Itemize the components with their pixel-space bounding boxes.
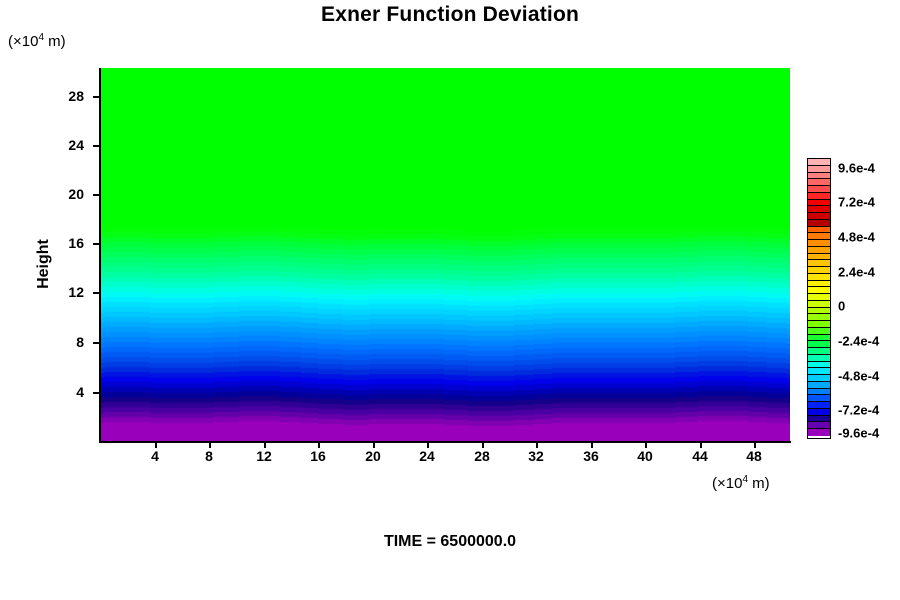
x-tick-mark	[264, 441, 266, 448]
colorbar-band	[808, 341, 830, 348]
colorbar-tick-label: -4.8e-4	[838, 369, 879, 384]
y-tick-mark	[93, 194, 101, 196]
colorbar-tick-label: -7.2e-4	[838, 403, 879, 418]
y-axis-spine	[99, 68, 101, 443]
x-tick-label: 16	[310, 448, 326, 464]
colorbar-tick-label: 7.2e-4	[838, 195, 875, 210]
colorbar-band	[808, 308, 830, 315]
x-tick-label: 24	[419, 448, 435, 464]
colorbar-band	[808, 206, 830, 213]
x-tick-mark	[645, 441, 647, 448]
colorbar-band	[808, 254, 830, 261]
x-axis-unit-tail: m)	[748, 475, 770, 492]
colorbar-band	[808, 335, 830, 342]
y-tick-mark	[93, 243, 101, 245]
colorbar-band	[808, 389, 830, 396]
x-tick-mark	[536, 441, 538, 448]
colorbar-band	[808, 368, 830, 375]
colorbar-band	[808, 375, 830, 382]
colorbar-ticklabels: 9.6e-47.2e-44.8e-42.4e-40-2.4e-4-4.8e-4-…	[838, 158, 900, 439]
x-tick-label: 20	[365, 448, 381, 464]
colorbar-band	[808, 287, 830, 294]
colorbar-band	[808, 193, 830, 200]
colorbar-band	[808, 247, 830, 254]
y-tick-mark	[93, 342, 101, 344]
colorbar-band	[808, 233, 830, 240]
colorbar-band	[808, 362, 830, 369]
colorbar-band	[808, 213, 830, 220]
y-tick-label: 28	[0, 88, 84, 104]
x-tick-label: 28	[474, 448, 490, 464]
colorbar-band	[808, 348, 830, 355]
x-tick-label: 12	[256, 448, 272, 464]
y-tick-mark	[93, 96, 101, 98]
page-title: Exner Function Deviation	[0, 3, 900, 27]
y-tick-mark	[93, 145, 101, 147]
colorbar-tick-label: 4.8e-4	[838, 230, 875, 245]
x-tick-label: 40	[637, 448, 653, 464]
colorbar-band	[808, 416, 830, 423]
colorbar-band	[808, 240, 830, 247]
colorbar-band	[808, 328, 830, 335]
y-tick-label: 4	[0, 384, 84, 400]
colorbar-band	[808, 402, 830, 409]
colorbar-band	[808, 200, 830, 207]
x-axis-spine	[101, 441, 791, 443]
colorbar-band	[808, 429, 830, 436]
y-tick-mark	[93, 392, 101, 394]
x-tick-mark	[155, 441, 157, 448]
colorbar-band	[808, 301, 830, 308]
colorbar-band	[808, 186, 830, 193]
x-tick-label: 32	[528, 448, 544, 464]
colorbar-band	[808, 267, 830, 274]
x-tick-label: 36	[583, 448, 599, 464]
colorbar-band	[808, 220, 830, 227]
contour-plot-area[interactable]	[101, 68, 790, 441]
colorbar-band	[808, 395, 830, 402]
x-axis-unit-base: (×10	[712, 475, 742, 492]
colorbar-band	[808, 355, 830, 362]
colorbar-band	[808, 159, 830, 166]
x-tick-mark	[427, 441, 429, 448]
contour-field-canvas	[101, 68, 790, 441]
x-tick-mark	[373, 441, 375, 448]
colorbar-band	[808, 422, 830, 429]
colorbar-band	[808, 227, 830, 234]
colorbar-tick-label: 9.6e-4	[838, 161, 875, 176]
colorbar-band	[808, 179, 830, 186]
y-tick-label: 8	[0, 334, 84, 350]
x-tick-mark	[754, 441, 756, 448]
y-tick-mark	[93, 292, 101, 294]
x-tick-mark	[591, 441, 593, 448]
colorbar-band	[808, 281, 830, 288]
y-tick-label: 24	[0, 137, 84, 153]
colorbar-band	[808, 274, 830, 281]
colorbar-band	[808, 260, 830, 267]
x-axis-unit-label: (×104 m)	[712, 474, 770, 492]
time-caption: TIME = 6500000.0	[0, 533, 900, 551]
y-tick-label: 20	[0, 186, 84, 202]
x-tick-mark	[318, 441, 320, 448]
x-tick-label: 8	[205, 448, 213, 464]
colorbar-band	[808, 321, 830, 328]
x-tick-mark	[209, 441, 211, 448]
colorbar-band	[808, 409, 830, 416]
colorbar-band	[808, 294, 830, 301]
colorbar-band	[808, 173, 830, 180]
colorbar-band	[808, 166, 830, 173]
colorbar-band	[808, 382, 830, 389]
x-tick-label: 44	[692, 448, 708, 464]
colorbar-tick-label: -2.4e-4	[838, 334, 879, 349]
x-tick-label: 48	[746, 448, 762, 464]
colorbar[interactable]	[807, 158, 831, 439]
y-axis-title: Height	[35, 214, 53, 314]
colorbar-tick-label: 2.4e-4	[838, 265, 875, 280]
colorbar-band	[808, 314, 830, 321]
x-tick-label: 4	[151, 448, 159, 464]
colorbar-tick-label: -9.6e-4	[838, 426, 879, 441]
colorbar-tick-label: 0	[838, 299, 845, 314]
x-tick-mark	[482, 441, 484, 448]
x-tick-mark	[700, 441, 702, 448]
